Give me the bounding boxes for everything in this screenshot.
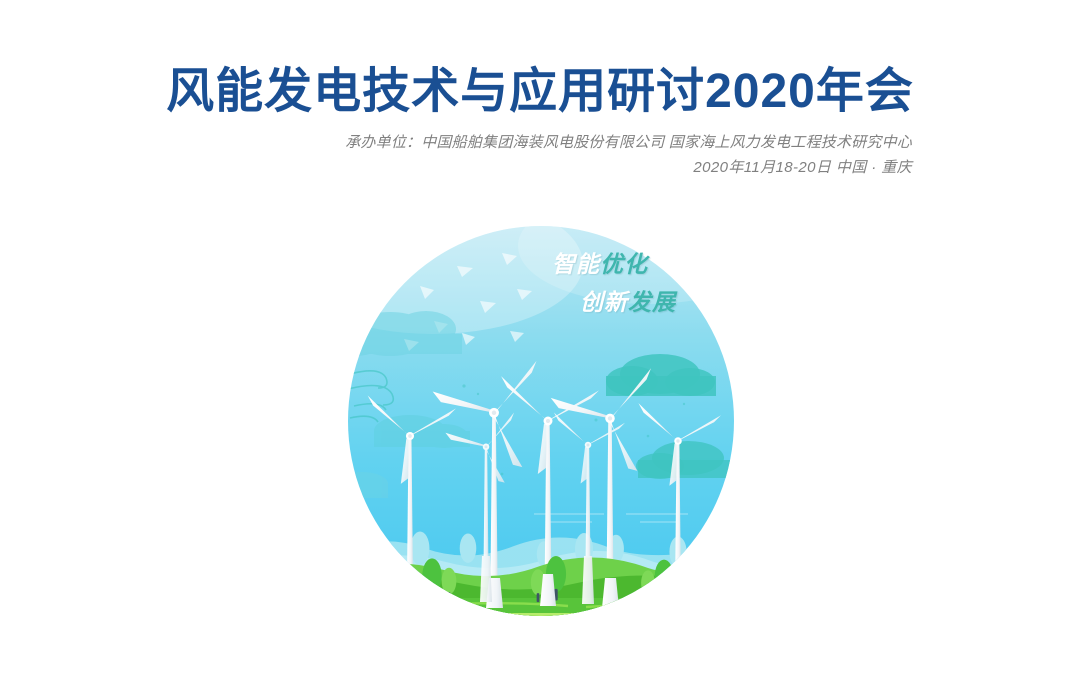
page-title: 风能发电技术与应用研讨2020年会	[0, 63, 1080, 121]
organizer-line: 承办单位：中国船舶集团海装风电股份有限公司 国家海上风力发电工程技术研究中心	[0, 133, 1080, 153]
tree	[641, 570, 655, 601]
tree	[655, 560, 674, 601]
poster-header: 风能发电技术与应用研讨2020年会 承办单位：中国船舶集团海装风电股份有限公司 …	[0, 0, 1080, 200]
cloud-upper-left	[348, 311, 462, 356]
illustration-clip-group	[348, 226, 734, 616]
tree	[422, 558, 441, 601]
wind-farm-circle-graphic	[348, 226, 734, 616]
tree	[442, 568, 457, 602]
wind-farm-illustration: 智能优化 创新发展	[348, 226, 734, 616]
date-location-line: 2020年11月18-20日 中国 · 重庆	[0, 158, 1080, 178]
